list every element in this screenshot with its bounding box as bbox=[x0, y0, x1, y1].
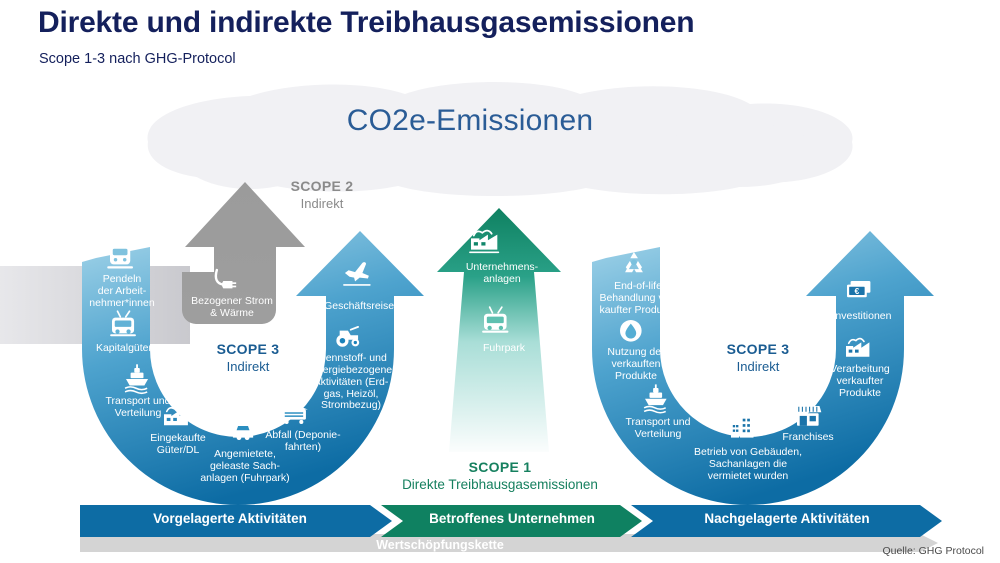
factory-icon bbox=[164, 407, 188, 426]
infographic-canvas: Direkte und indirekte Treibhausgasemissi… bbox=[0, 0, 1000, 563]
drop-icon bbox=[620, 320, 642, 342]
car-icon bbox=[233, 423, 253, 440]
shop-icon bbox=[794, 406, 821, 426]
scope1-heading: SCOPE 1 Direkte Treibhausgasemissionen bbox=[398, 459, 602, 493]
scope3-left-heading: SCOPE 3 Indirekt bbox=[178, 341, 318, 375]
scope3-right-heading: SCOPE 3 Indirekt bbox=[688, 341, 828, 375]
chain-company-label: Betroffenes Unternehmen bbox=[392, 512, 632, 526]
scope1-green-arrow bbox=[437, 208, 561, 452]
value-chain-label: Wertschöpfungskette bbox=[0, 538, 940, 552]
cloud-heading: CO2e-Emissionen bbox=[0, 104, 970, 138]
scope2-heading: SCOPE 2 Indirekt bbox=[252, 178, 392, 212]
chain-downstream-label: Nachgelagerte Aktivitäten bbox=[642, 512, 932, 526]
building-icon bbox=[731, 416, 754, 438]
source-note: Quelle: GHG Protocol bbox=[882, 545, 984, 557]
svg-text:€: € bbox=[855, 286, 860, 296]
chain-upstream-label: Vorgelagerte Aktivitäten bbox=[80, 512, 380, 526]
